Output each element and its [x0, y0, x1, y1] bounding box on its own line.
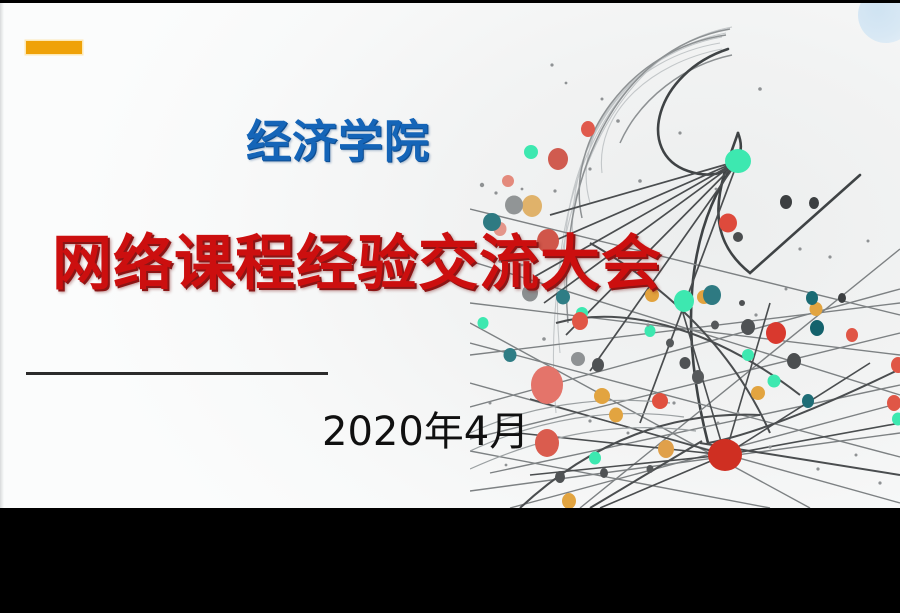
page-title: 网络课程经验交流大会	[52, 215, 662, 302]
left-edge-shading	[0, 3, 4, 508]
bottom-black-band	[0, 508, 900, 613]
presentation-date: 2020年4月	[322, 399, 529, 457]
presentation-slide: 经济学院 网络课程经验交流大会 2020年4月	[0, 0, 900, 613]
orange-accent-bar	[26, 41, 82, 54]
divider	[26, 372, 328, 375]
slide-canvas: 经济学院 网络课程经验交流大会 2020年4月	[0, 3, 900, 508]
institution-name: 经济学院	[246, 105, 430, 170]
top-black-strip	[0, 0, 900, 3]
